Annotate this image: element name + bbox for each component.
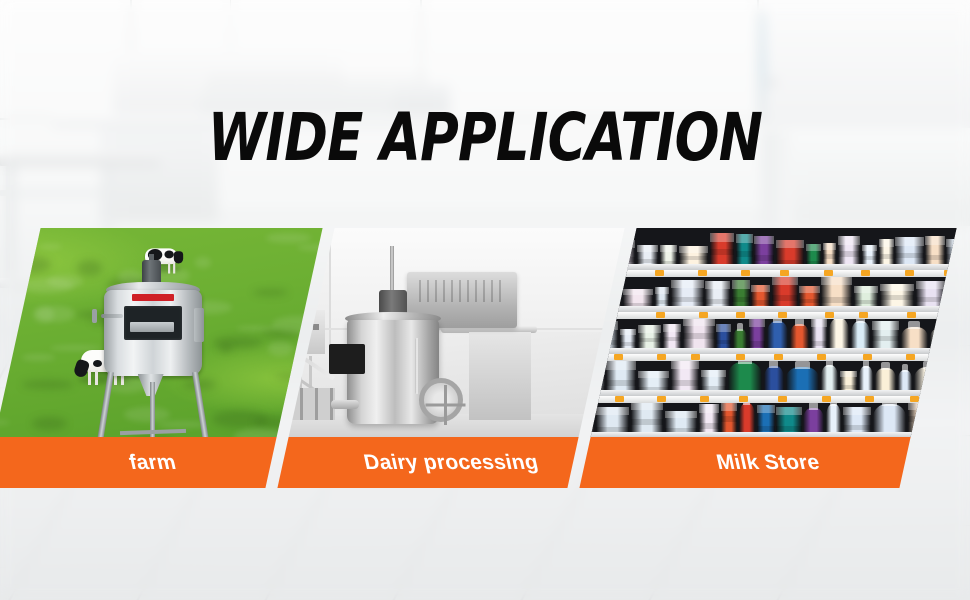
- price-rail: [579, 312, 956, 319]
- carton-top: [679, 246, 708, 252]
- application-panels: farm: [0, 228, 970, 488]
- carton-top: [838, 236, 860, 245]
- panel-farm-caption-label: farm: [0, 437, 323, 488]
- grass-tuft: [39, 244, 62, 249]
- price-rail: [579, 270, 956, 277]
- price-tag: [780, 270, 789, 276]
- milk-carton: [908, 401, 936, 437]
- carton-top: [880, 284, 914, 291]
- carton-top: [776, 240, 804, 248]
- dairy-plant-scene: [277, 228, 624, 437]
- bottle-neck: [881, 362, 890, 370]
- price-tag: [822, 396, 831, 402]
- wide-application-banner: WIDE APPLICATION: [0, 0, 970, 600]
- price-tag: [741, 270, 750, 276]
- grass-tuft: [0, 332, 8, 345]
- carton-top: [699, 404, 719, 413]
- panel-milk-store[interactable]: Milk Store: [579, 228, 956, 488]
- grass-tuft: [297, 244, 323, 250]
- carton-band: [880, 295, 914, 300]
- page-title: WIDE APPLICATION: [97, 103, 873, 173]
- price-tag: [907, 312, 916, 318]
- panel-dairy-inner: Dairy processing: [277, 228, 624, 488]
- carton-band: [749, 341, 765, 347]
- carton-top: [710, 233, 734, 243]
- carton-top: [732, 280, 750, 288]
- carton-band: [843, 425, 871, 430]
- bottle-neck: [795, 361, 810, 369]
- price-tag: [817, 354, 826, 360]
- price-tag: [944, 312, 953, 318]
- carton-top: [638, 371, 669, 377]
- carton-top: [938, 407, 957, 415]
- carton-top: [840, 371, 857, 378]
- price-tag: [691, 354, 700, 360]
- carton-top: [947, 284, 956, 291]
- carton-top: [751, 285, 770, 292]
- carton-band: [925, 255, 944, 260]
- carton-top: [754, 236, 774, 245]
- carton-band: [732, 297, 750, 302]
- carton-band: [840, 385, 857, 389]
- price-tag: [910, 396, 919, 402]
- grass-tuft: [22, 380, 74, 389]
- brand-label: [132, 294, 174, 301]
- carton-band: [772, 295, 798, 301]
- carton-band: [671, 297, 704, 302]
- carton-band: [872, 336, 899, 341]
- carton-band: [879, 254, 894, 259]
- grass-tuft: [22, 354, 55, 361]
- price-tag: [774, 354, 783, 360]
- carton-band: [638, 338, 662, 343]
- gauge-icon: [130, 322, 174, 332]
- price-tag: [906, 354, 915, 360]
- price-tag: [656, 312, 665, 318]
- price-tag: [824, 270, 833, 276]
- grass-tuft: [235, 428, 287, 437]
- carton-band: [757, 426, 775, 431]
- carton-band: [811, 341, 827, 347]
- cabinet-knob-icon: [769, 79, 776, 86]
- carton-band: [754, 255, 774, 261]
- carton-top: [721, 402, 738, 411]
- pasture-scene: [0, 228, 323, 437]
- milk-carton: [947, 284, 956, 312]
- price-tag: [655, 270, 664, 276]
- bottle-neck: [737, 323, 743, 331]
- carton-band: [710, 249, 734, 255]
- carton-band: [596, 427, 629, 432]
- carton-top: [606, 361, 636, 370]
- carton-band: [916, 297, 946, 302]
- carton-band: [799, 299, 819, 303]
- plant-signage: [329, 344, 365, 374]
- carton-band: [823, 254, 836, 258]
- grass-tuft: [268, 341, 293, 356]
- carton-top: [872, 321, 899, 330]
- carton-band: [854, 300, 878, 304]
- panel-store-caption-label: Milk Store: [579, 437, 956, 488]
- carton-band: [663, 337, 681, 342]
- price-tag: [950, 354, 956, 360]
- grass-tuft: [33, 417, 67, 430]
- price-tag: [778, 396, 787, 402]
- carton-top: [806, 244, 821, 251]
- price-tag: [607, 312, 616, 318]
- price-tag: [739, 396, 748, 402]
- carton-top: [799, 286, 819, 293]
- grass-tuft: [266, 233, 311, 243]
- grass-tuft: [21, 278, 75, 293]
- bottle-neck: [795, 318, 803, 326]
- carton-band: [683, 333, 715, 339]
- milk-bottle: [930, 328, 953, 354]
- bottle-neck: [936, 322, 946, 330]
- plant-right-cabinet: [469, 332, 531, 420]
- bottle-neck: [902, 364, 908, 372]
- milk-carton: [938, 407, 957, 437]
- price-tag: [657, 396, 666, 402]
- panel-farm[interactable]: farm: [0, 228, 323, 488]
- carton-top: [660, 245, 678, 251]
- carton-top: [925, 236, 944, 245]
- background-shelf-mid: [0, 190, 140, 196]
- carton-top: [946, 364, 956, 372]
- grass-tuft: [0, 420, 10, 425]
- carton-band: [776, 426, 801, 431]
- carton-top: [623, 289, 653, 295]
- panel-farm-caption: farm: [0, 437, 323, 488]
- price-tag: [778, 312, 787, 318]
- panel-store-photo: [579, 228, 956, 437]
- handwheel-icon: [419, 378, 463, 422]
- carton-band: [705, 299, 729, 304]
- carton-band: [716, 340, 730, 345]
- bottle-neck: [923, 361, 936, 369]
- price-tag: [859, 312, 868, 318]
- carton-top: [879, 239, 894, 247]
- carton-band: [895, 253, 923, 258]
- carton-top: [916, 281, 946, 289]
- carton-band: [655, 300, 669, 304]
- carton-top: [946, 239, 956, 247]
- carton-top: [701, 370, 727, 377]
- carton-top: [665, 411, 697, 418]
- carton-top: [716, 324, 730, 332]
- grass-tuft: [34, 306, 55, 322]
- outlet-pipe-icon: [331, 400, 359, 409]
- carton-top: [862, 245, 877, 252]
- price-tag: [861, 270, 870, 276]
- carton-band: [631, 419, 663, 425]
- price-tag: [736, 312, 745, 318]
- price-tag: [944, 270, 953, 276]
- grass-tuft: [14, 256, 52, 273]
- carton-band: [679, 256, 708, 260]
- carton-band: [606, 380, 636, 386]
- carton-top: [671, 280, 704, 288]
- grass-tuft: [0, 390, 2, 401]
- bottle-neck: [908, 321, 920, 329]
- price-tag: [863, 354, 872, 360]
- panel-dairy-caption: Dairy processing: [277, 437, 624, 488]
- carton-top: [843, 407, 871, 415]
- grass-tuft: [219, 344, 233, 353]
- carton-top: [776, 407, 801, 415]
- carton-top: [811, 318, 827, 327]
- carton-band: [671, 380, 699, 386]
- carton-top: [655, 287, 669, 293]
- carton-band: [751, 300, 770, 304]
- carton-top: [637, 245, 658, 251]
- bottle-neck: [809, 402, 818, 410]
- price-tag: [699, 312, 708, 318]
- panel-dairy-caption-label: Dairy processing: [277, 437, 624, 488]
- price-tag: [736, 354, 745, 360]
- milk-carton: [946, 364, 956, 396]
- carton-top: [895, 237, 923, 246]
- price-rail: [579, 354, 956, 361]
- pasteurizer-machine: [90, 254, 216, 434]
- price-tag: [657, 354, 666, 360]
- carton-band: [862, 256, 877, 260]
- carton-band: [946, 381, 956, 386]
- carton-band: [838, 251, 860, 257]
- carton-top: [596, 407, 629, 415]
- price-tag: [952, 396, 957, 402]
- price-tag: [865, 396, 874, 402]
- grass-tuft: [254, 289, 289, 297]
- panel-farm-photo: [0, 228, 323, 437]
- panel-store-inner: Milk Store: [579, 228, 956, 488]
- carton-top: [663, 324, 681, 332]
- price-rail: [579, 396, 956, 403]
- supermarket-aisle-scene: [579, 228, 956, 437]
- carton-top: [823, 243, 836, 250]
- price-tag: [905, 270, 914, 276]
- carton-top: [854, 286, 878, 293]
- price-tag: [615, 396, 624, 402]
- carton-band: [637, 259, 658, 263]
- panel-store-caption: Milk Store: [579, 437, 956, 488]
- carton-top: [705, 281, 729, 289]
- carton-band: [736, 251, 753, 257]
- carton-top: [620, 329, 636, 336]
- carton-top: [736, 234, 753, 243]
- carton-band: [947, 296, 956, 301]
- sight-glass-icon: [415, 338, 419, 394]
- price-tag: [700, 396, 709, 402]
- carton-top: [757, 405, 775, 414]
- carton-band: [908, 416, 936, 422]
- floor-tile-line: [0, 521, 970, 571]
- carton-band: [938, 423, 957, 428]
- price-tag: [698, 270, 707, 276]
- carton-top: [821, 276, 852, 285]
- shelf-deck: [579, 432, 956, 437]
- price-tag: [614, 354, 623, 360]
- carton-band: [699, 423, 719, 428]
- carton-band: [821, 297, 852, 303]
- carton-band: [620, 342, 636, 346]
- milk-bottle: [954, 328, 957, 354]
- carton-band: [721, 416, 738, 422]
- valve-handle-icon: [92, 309, 97, 323]
- price-tag: [825, 312, 834, 318]
- carton-top: [638, 325, 662, 332]
- panel-dairy-processing[interactable]: Dairy processing: [277, 228, 624, 488]
- carton-band: [946, 254, 956, 259]
- panel-farm-inner: farm: [0, 228, 323, 488]
- panel-dairy-photo: [277, 228, 624, 437]
